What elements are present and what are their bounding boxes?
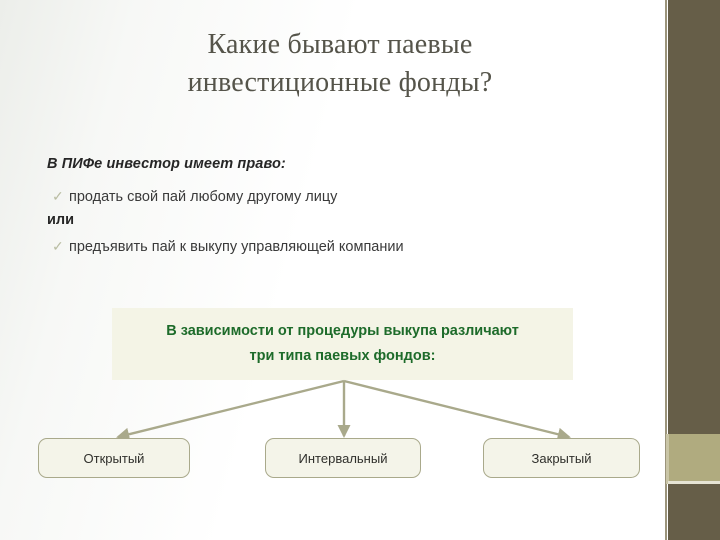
fund-type-box-interval: Интервальный [265,438,421,478]
callout-line-1: В зависимости от процедуры выкупа различ… [166,319,519,344]
slide-title-line-1: Какие бывают паевые [60,26,620,64]
fund-type-label: Закрытый [532,451,592,466]
fund-type-box-open: Открытый [38,438,190,478]
fund-type-label: Интервальный [299,451,388,466]
right-edge-light-block-side [666,434,669,484]
callout-box: В зависимости от процедуры выкупа различ… [112,308,573,380]
or-connector: или [47,212,74,228]
fund-type-label: Открытый [84,451,145,466]
slide-canvas: Какие бывают паевые инвестиционные фонды… [0,0,720,540]
list-item-label: продать свой пай любому другому лицу [69,189,337,205]
lead-statement: В ПИФе инвестор имеет право: [47,156,286,172]
check-icon: ✓ [52,238,69,255]
arrow-to-open [118,381,344,437]
right-edge-light-block [668,434,720,484]
fund-type-box-closed: Закрытый [483,438,640,478]
callout-line-2: три типа паевых фондов: [250,344,436,369]
slide-title-line-2: инвестиционные фонды? [60,64,620,102]
slide-title: Какие бывают паевые инвестиционные фонды… [60,26,620,102]
list-item: ✓продать свой пай любому другому лицу [52,188,337,205]
check-icon: ✓ [52,188,69,205]
right-edge-light-block-rule [668,481,720,484]
list-item-label: предъявить пай к выкупу управляющей комп… [69,239,404,255]
list-item: ✓предъявить пай к выкупу управляющей ком… [52,238,404,255]
arrow-to-closed [344,381,569,437]
